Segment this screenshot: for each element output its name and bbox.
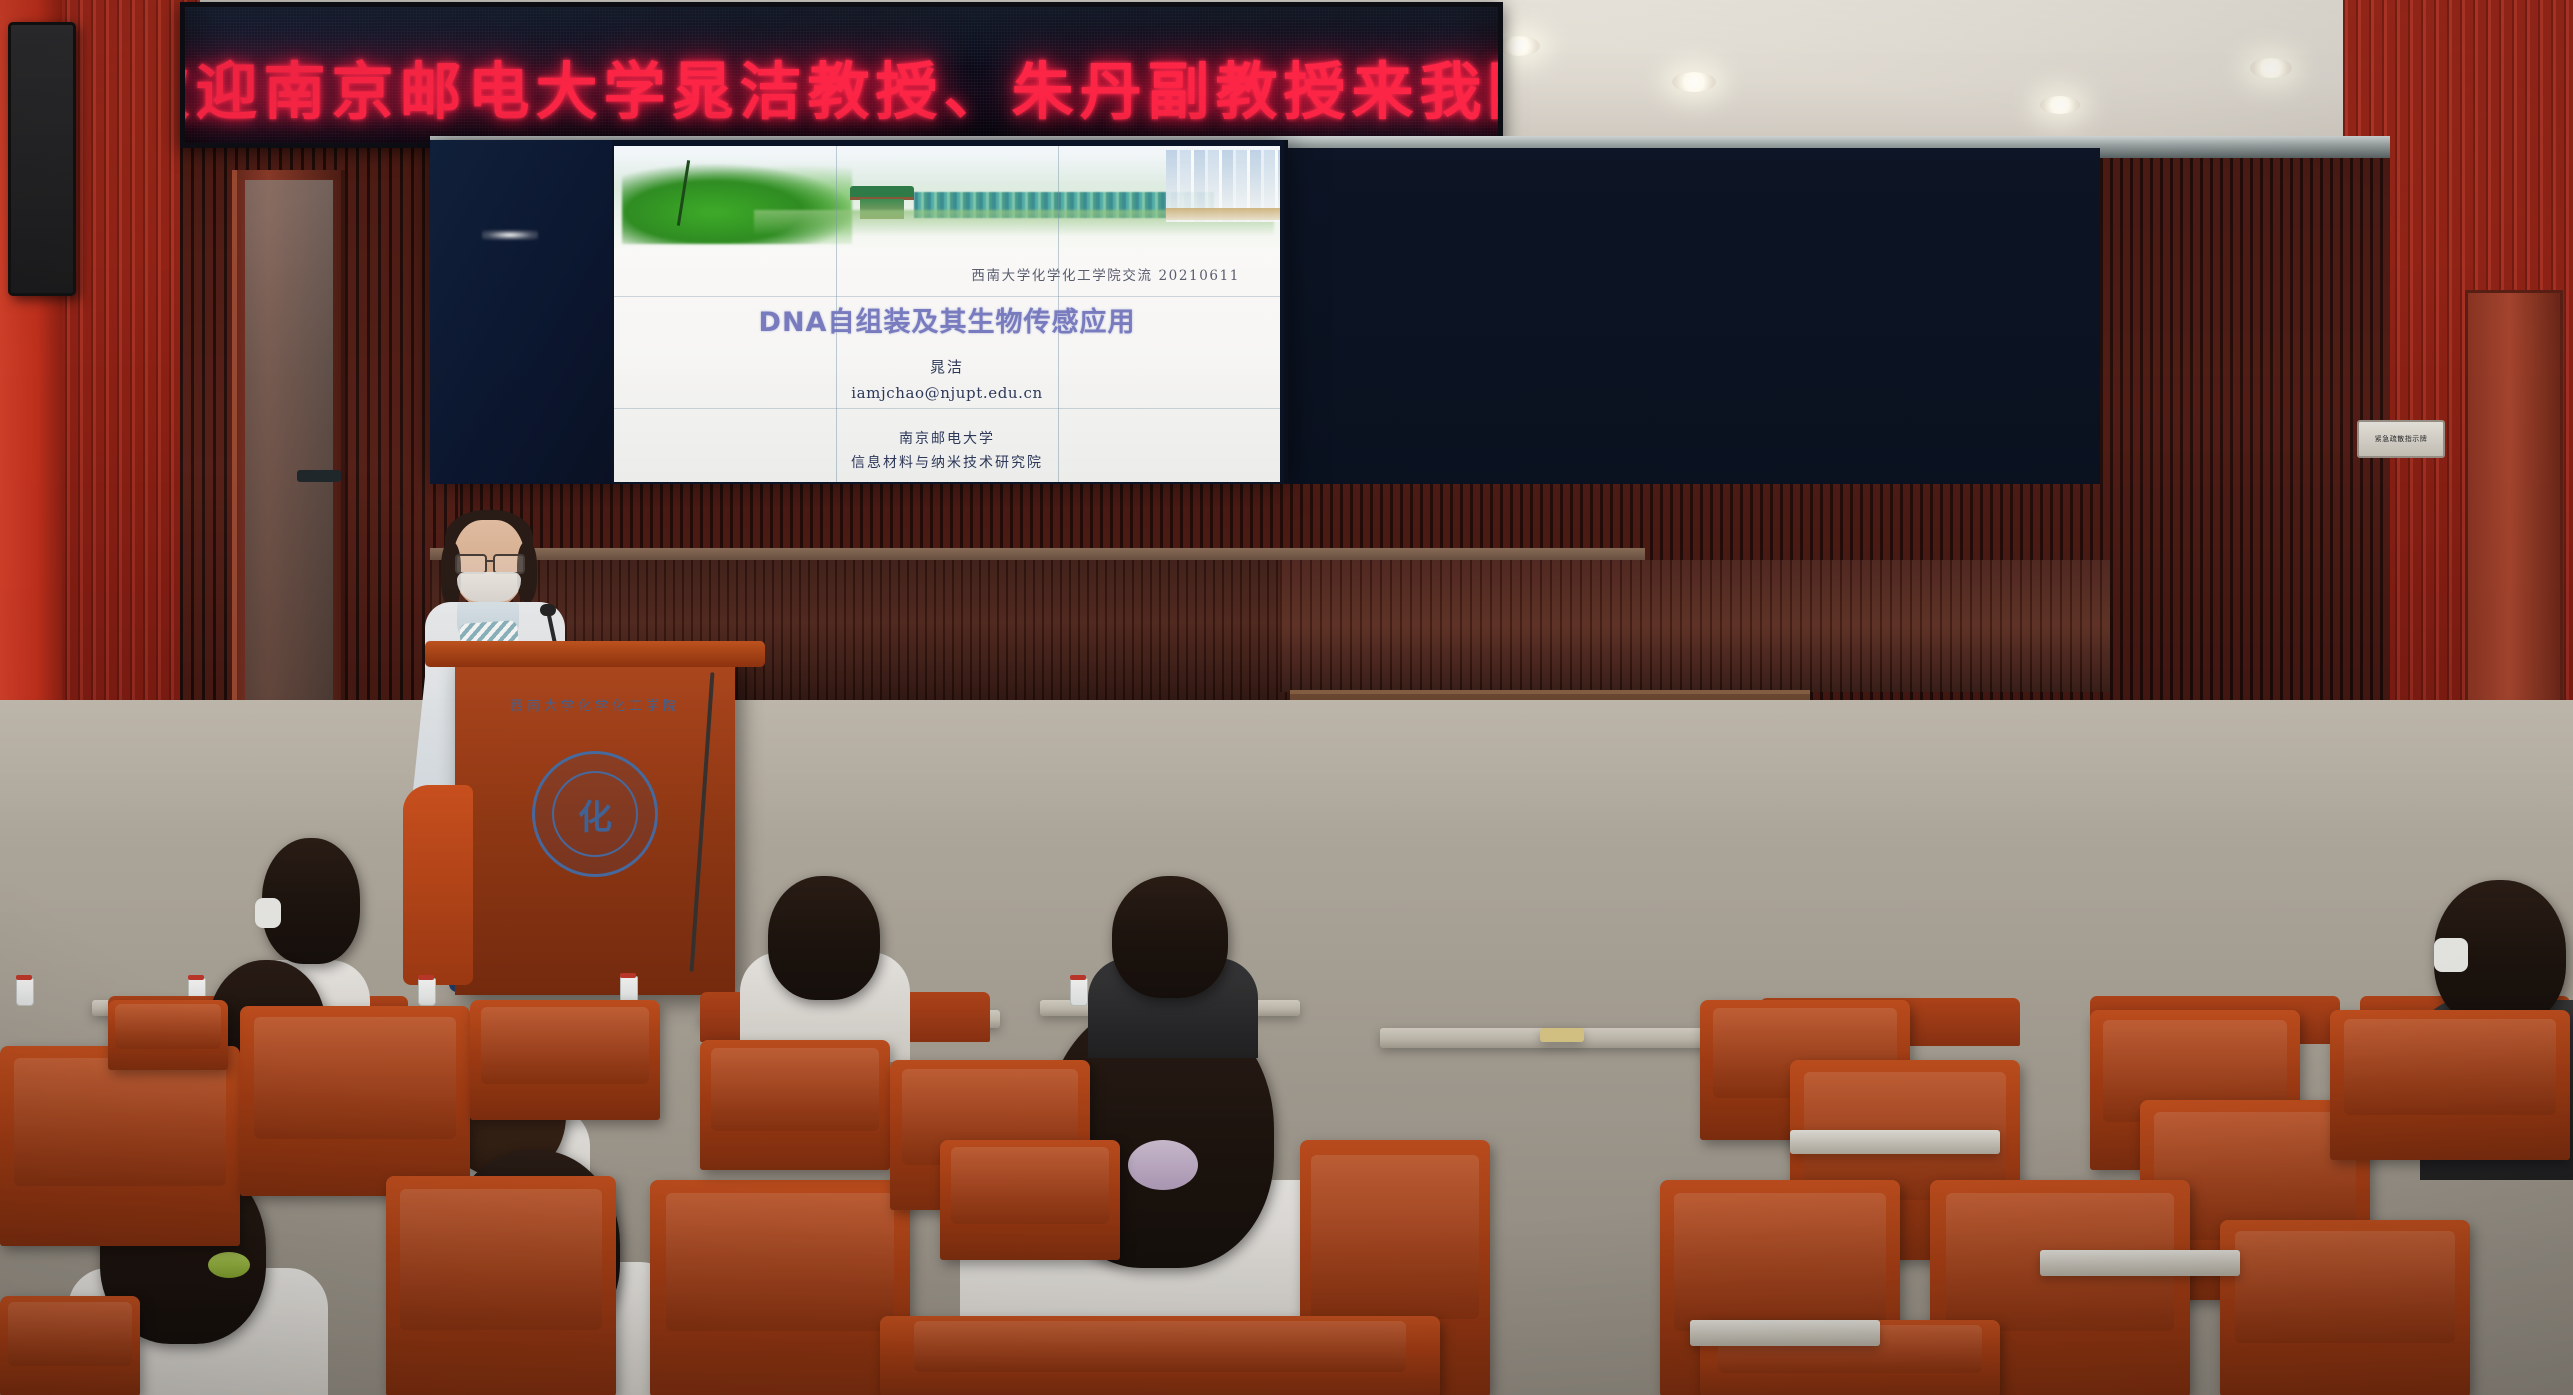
- projection-screen: 西南大学化学化工学院交流 20210611 DNA自组装及其生物传感应用 晁洁 …: [430, 140, 1288, 484]
- auditorium-seat[interactable]: [2220, 1220, 2470, 1395]
- university-emblem: 化: [532, 751, 658, 877]
- water-cup[interactable]: [418, 978, 436, 1006]
- hair-scrunchie: [1128, 1140, 1198, 1190]
- slide-subtitle: 西南大学化学化工学院交流 20210611: [971, 264, 1240, 284]
- glasses-lens-right: [493, 554, 525, 574]
- ceiling-light: [1498, 36, 1540, 56]
- photo-building-base: [1166, 208, 1280, 220]
- auditorium-seat[interactable]: [240, 1006, 470, 1196]
- slide-organization-university: 南京邮电大学: [614, 428, 1280, 448]
- lectern-side-chair: [403, 785, 473, 985]
- video-wall-seam: [614, 408, 1280, 409]
- fold-down-desk[interactable]: [1790, 1130, 2000, 1154]
- welcome-led-banner: 热烈欢迎南京邮电大学晁洁教授、朱丹副教授来我院交流: [180, 2, 1503, 148]
- stage-side-door[interactable]: [232, 170, 345, 790]
- lectern-crest-text: 西南大学化学化工学院: [455, 695, 735, 714]
- auditorium-seat[interactable]: [386, 1176, 616, 1395]
- slide-organization-institute: 信息材料与纳米技术研究院: [614, 452, 1280, 472]
- video-wall-seam: [614, 296, 1280, 297]
- fold-down-desk[interactable]: [2040, 1250, 2240, 1276]
- microphone-icon: [540, 604, 556, 616]
- face-mask: [457, 572, 521, 602]
- ceiling-light: [1672, 72, 1716, 92]
- face-mask: [2434, 938, 2468, 972]
- slide-header-photo: [614, 146, 1280, 254]
- ceiling-light: [2250, 58, 2292, 78]
- lecture-hall-photo: 紧急疏散指示牌 热烈欢迎南京邮电大学晁洁教授、朱丹副教授来我院交流: [0, 0, 2573, 1395]
- stage-object: [1540, 1028, 1584, 1042]
- audience-head: [768, 876, 880, 1000]
- water-cup[interactable]: [16, 978, 34, 1006]
- auditorium-seat[interactable]: [700, 1040, 890, 1170]
- fold-down-desk[interactable]: [1690, 1320, 1880, 1346]
- door-handle[interactable]: [297, 470, 341, 482]
- slide-email: iamjchao@njupt.edu.cn: [614, 384, 1280, 402]
- face-mask: [255, 898, 281, 928]
- auditorium-seat[interactable]: [2330, 1010, 2570, 1160]
- auditorium-seat[interactable]: [0, 1046, 240, 1246]
- emergency-exit-sign: 紧急疏散指示牌: [2357, 420, 2445, 458]
- glasses-lens-left: [455, 554, 487, 574]
- video-wall-right-bezel: [1284, 148, 2100, 484]
- glasses-icon: [455, 554, 525, 570]
- lectern-top: [425, 641, 765, 667]
- auditorium-seat[interactable]: [108, 1000, 228, 1070]
- auditorium-seat[interactable]: [880, 1316, 1440, 1395]
- screen-glare: [482, 230, 538, 240]
- video-wall-left-bezel: [430, 140, 612, 484]
- wall-loudspeaker: [8, 22, 76, 296]
- presentation-slide: 西南大学化学化工学院交流 20210611 DNA自组装及其生物传感应用 晁洁 …: [614, 146, 1280, 482]
- auditorium-seat[interactable]: [470, 1000, 660, 1120]
- pavilion-roof: [850, 186, 914, 197]
- emblem-character: 化: [552, 771, 638, 857]
- audience-head: [1112, 876, 1228, 998]
- right-side-door[interactable]: [2465, 290, 2563, 726]
- auditorium-seat[interactable]: [650, 1180, 910, 1395]
- auditorium-seat[interactable]: [0, 1296, 140, 1395]
- auditorium-seat[interactable]: [940, 1140, 1120, 1260]
- slide-title: DNA自组装及其生物传感应用: [614, 300, 1280, 339]
- ceiling-light: [2040, 96, 2080, 114]
- hair-tie: [208, 1252, 250, 1278]
- stage-front-face-right: [1280, 560, 2110, 692]
- water-cup[interactable]: [1070, 978, 1088, 1006]
- led-banner-text: 热烈欢迎南京邮电大学晁洁教授、朱丹副教授来我院交流: [180, 41, 1503, 131]
- slide-author: 晁洁: [614, 356, 1280, 377]
